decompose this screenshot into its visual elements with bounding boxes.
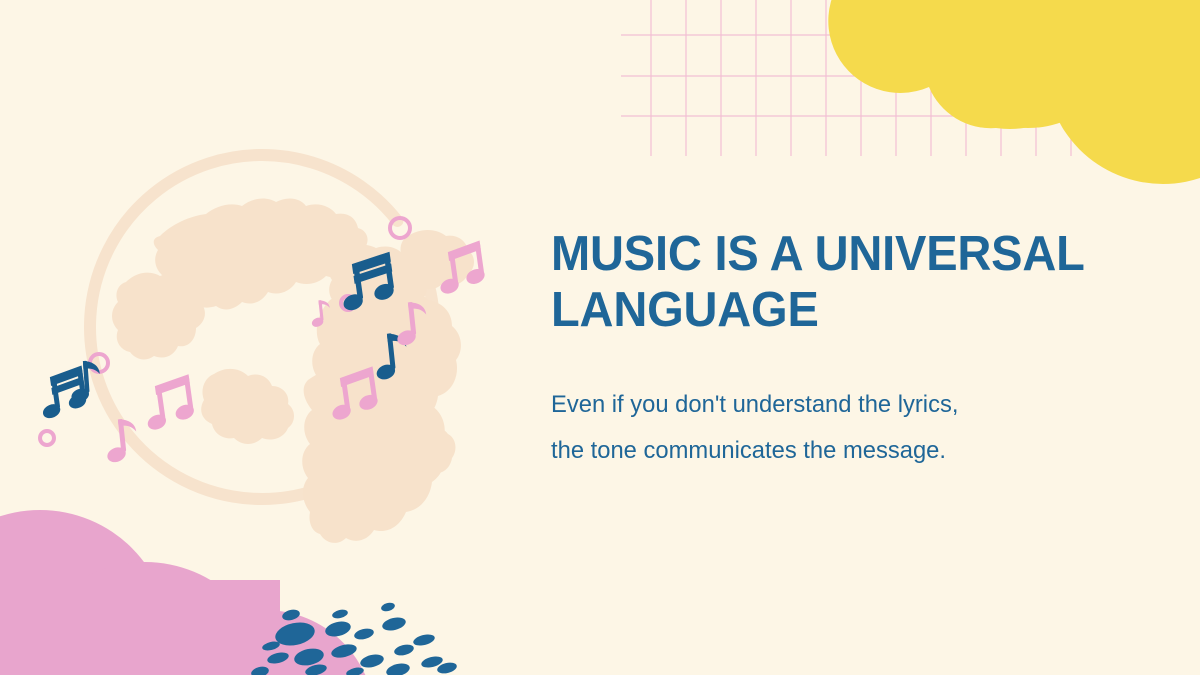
music-note-blue-single-2: [67, 360, 101, 405]
slide-canvas: MUSIC IS A UNIVERSAL LANGUAGE Even if yo…: [0, 0, 1200, 675]
headline-block: MUSIC IS A UNIVERSAL LANGUAGE Even if yo…: [551, 226, 1171, 338]
music-note-pink-beamed-3: [140, 374, 198, 433]
globe-ring: [45, 110, 478, 543]
music-note-pink-single-small: [309, 299, 332, 328]
music-note-blue-beamed-2: [36, 365, 90, 421]
music-note-blue-beamed-1: [335, 252, 397, 314]
music-note-pink-beamed-2: [325, 366, 382, 423]
page-title: MUSIC IS A UNIVERSAL LANGUAGE: [551, 226, 1146, 338]
music-note-blue-single-1: [371, 332, 410, 383]
globe-continents: [112, 199, 474, 543]
page-subtitle: Even if you don't understand the lyrics,…: [551, 382, 1133, 474]
music-note-pink-single-2: [102, 418, 140, 466]
music-note-pink-beamed-1: [433, 240, 489, 297]
music-note-pink-single-1: [392, 301, 430, 349]
